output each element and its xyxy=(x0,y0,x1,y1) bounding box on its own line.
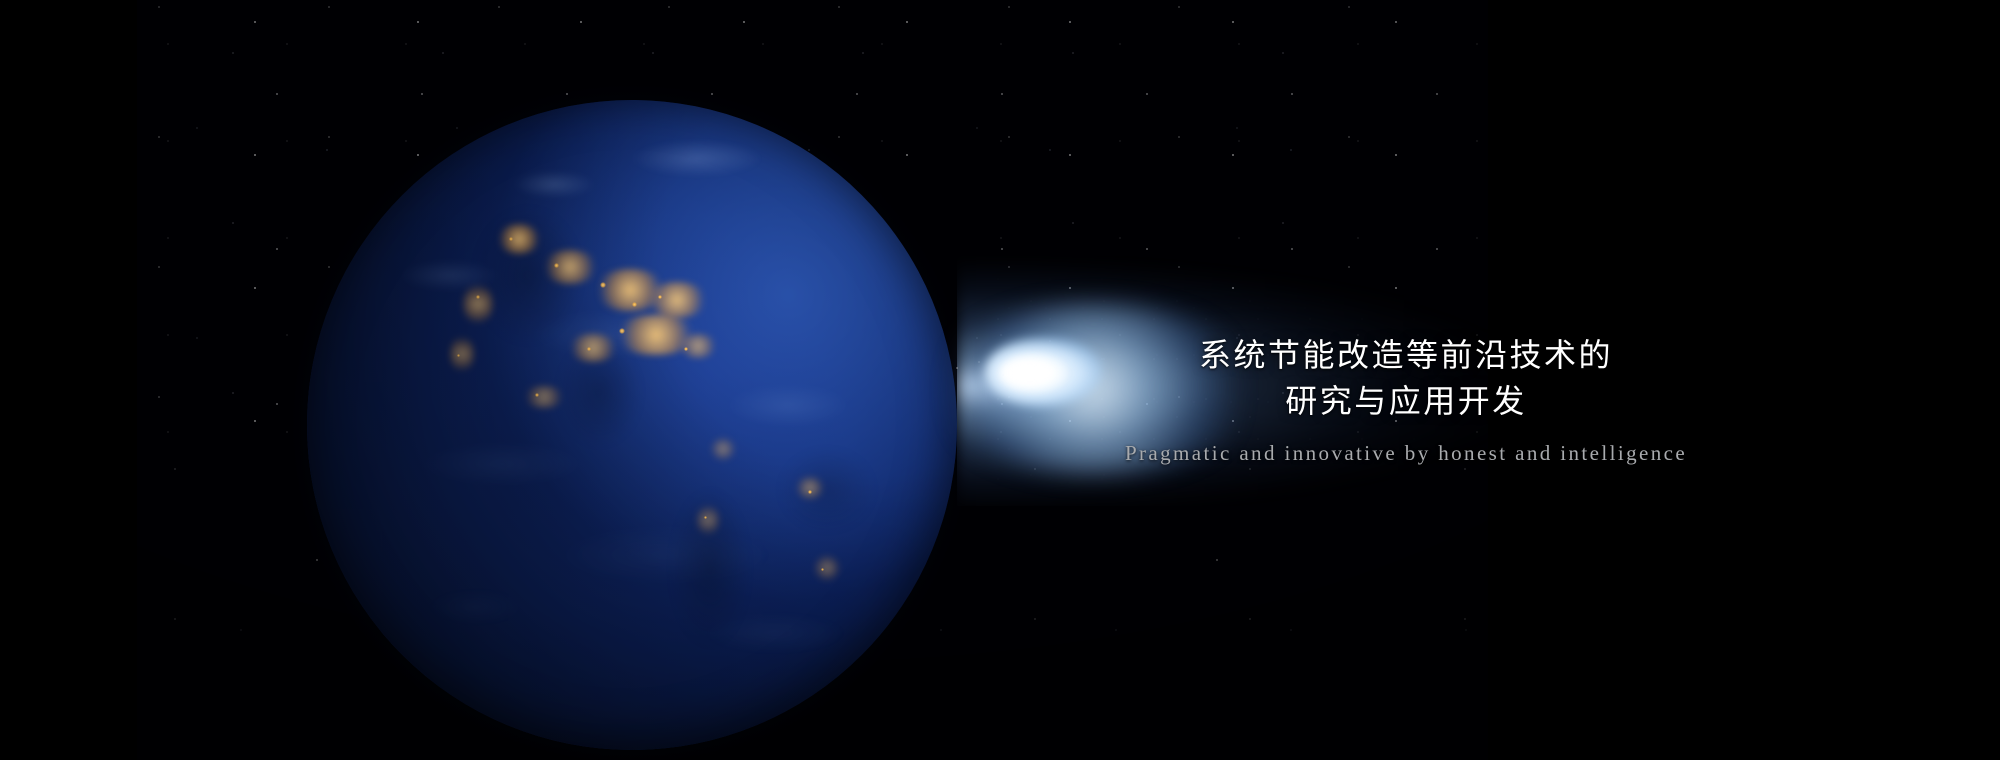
comet-tail xyxy=(957,256,1488,506)
earth-globe xyxy=(307,100,957,750)
hero-banner: 系统节能改造等前沿技术的 研究与应用开发 Pragmatic and innov… xyxy=(0,0,2000,760)
comet-tail-speckle xyxy=(987,270,1488,485)
earth-atmosphere-rim xyxy=(296,89,968,760)
hero-background-photo xyxy=(137,0,1488,760)
comet-tail-mask xyxy=(967,270,1488,502)
